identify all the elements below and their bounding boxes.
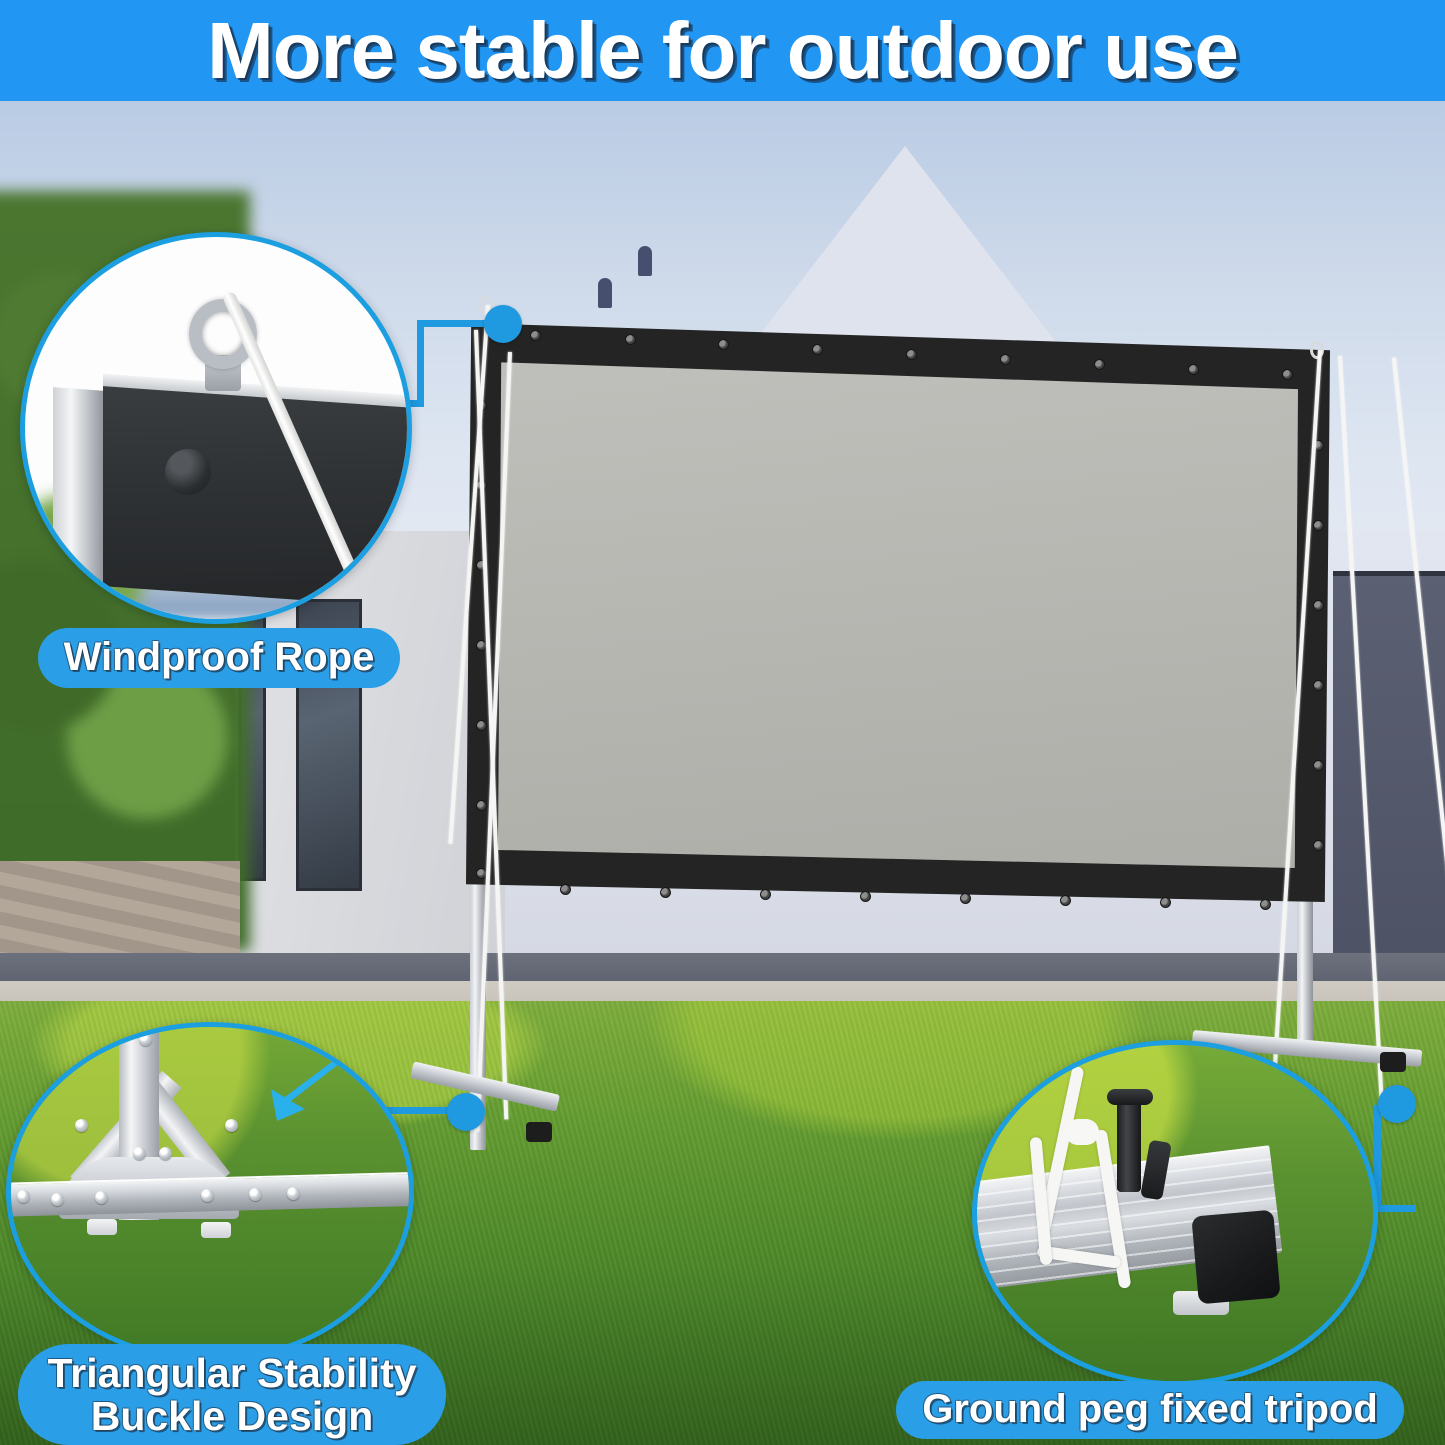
grommet xyxy=(1313,520,1324,531)
ground-peg-head xyxy=(1107,1089,1153,1105)
rivet xyxy=(249,1188,262,1201)
grommet xyxy=(760,889,771,900)
grommet xyxy=(1313,680,1324,691)
guy-rope-right-outer xyxy=(1338,356,1384,1115)
black-bracket-body xyxy=(103,386,412,608)
rivet xyxy=(287,1187,300,1200)
grommet xyxy=(1188,364,1199,375)
rivet xyxy=(95,1191,108,1204)
connector-dot-screen-corner xyxy=(484,305,522,343)
label-windproof-rope: Windproof Rope xyxy=(38,628,400,688)
screen-projection-surface xyxy=(498,352,1298,868)
connector-line-rope-v xyxy=(417,326,424,406)
label-triangular-stability-buckle: Triangular Stability Buckle Design xyxy=(18,1344,446,1445)
grommet xyxy=(1313,600,1324,611)
grommet xyxy=(1000,354,1011,365)
pointer-arrow-icon xyxy=(247,1045,365,1123)
connector-dot-left-foot xyxy=(447,1093,485,1131)
rivet xyxy=(75,1119,88,1132)
rivet xyxy=(133,1147,146,1160)
grommet xyxy=(476,800,487,811)
grommet xyxy=(560,884,571,895)
foot-end-cap-left xyxy=(526,1122,552,1142)
banner-title: More stable for outdoor use xyxy=(0,0,1445,101)
rivet xyxy=(201,1189,214,1202)
grommet xyxy=(960,893,971,904)
rivet xyxy=(139,1033,152,1046)
foot-pad-left xyxy=(87,1219,117,1235)
callout-ground-peg xyxy=(972,1040,1378,1386)
rivet xyxy=(51,1193,64,1206)
grommet xyxy=(1282,369,1293,380)
foot-end-cap-right xyxy=(1380,1052,1406,1072)
grommet xyxy=(476,720,487,731)
bracket-side-aluminum xyxy=(53,387,105,621)
grommet xyxy=(1313,840,1324,851)
connector-dot-right-foot xyxy=(1378,1085,1416,1123)
grommet xyxy=(625,334,636,345)
grommet xyxy=(1160,897,1171,908)
grommet xyxy=(718,339,729,350)
rivet xyxy=(159,1147,172,1160)
rope-knot xyxy=(1065,1119,1099,1145)
bar-end-cap xyxy=(1191,1210,1280,1305)
grommet xyxy=(906,349,917,360)
rivet xyxy=(17,1190,30,1203)
label-ground-peg-fixed-tripod: Ground peg fixed tripod xyxy=(896,1381,1404,1439)
grommet xyxy=(1313,760,1324,771)
callout-triangular-buckle xyxy=(6,1022,414,1362)
header-banner: More stable for outdoor use xyxy=(0,0,1445,101)
grommet xyxy=(1060,895,1071,906)
foot-pad-right xyxy=(201,1222,231,1238)
grommet xyxy=(530,330,541,341)
rivet xyxy=(225,1119,238,1132)
grommet xyxy=(1094,359,1105,370)
product-infographic: More stable for outdoor use Windproof Ro… xyxy=(0,0,1445,1445)
bracket-knob xyxy=(165,449,211,495)
callout-windproof-rope xyxy=(20,232,412,624)
grommet xyxy=(860,891,871,902)
grommet xyxy=(1260,899,1271,910)
grommet xyxy=(660,887,671,898)
grommet xyxy=(812,344,823,355)
guy-rope-right-far xyxy=(1392,358,1445,1094)
ground-peg xyxy=(1117,1097,1141,1192)
